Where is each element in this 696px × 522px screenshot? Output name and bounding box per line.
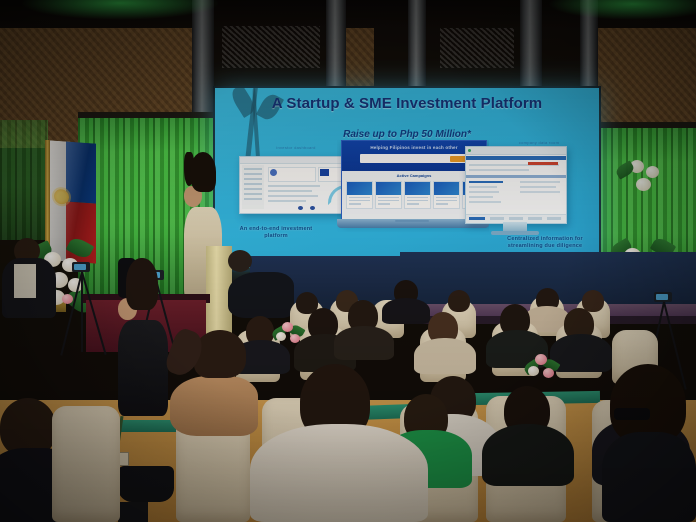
micro-label-left: investor dashboard xyxy=(251,145,341,150)
ceiling-glow-left xyxy=(20,0,220,20)
table-centerpiece-b xyxy=(524,350,560,386)
wall-pane-right xyxy=(440,28,514,68)
pillar-c xyxy=(408,0,426,92)
data-room-screenshot xyxy=(465,146,567,224)
led-presentation-screen: A Startup & SME Investment Platform Rais… xyxy=(215,88,599,268)
micro-label-right: company data room xyxy=(491,140,587,145)
presentation-subtitle: Raise up to Php 50 Million* xyxy=(215,129,599,140)
floral-arrangement-upper-right xyxy=(614,150,674,210)
laptop-search-bar xyxy=(360,154,468,163)
camera-tripod-left xyxy=(62,262,102,358)
pillar-d xyxy=(520,0,542,95)
wall-pane-left xyxy=(222,26,320,68)
monitor-foot xyxy=(491,231,539,235)
green-curtain-far-left xyxy=(0,120,48,240)
attendee-standing-center xyxy=(228,250,294,318)
ceiling-glow-right xyxy=(548,0,696,20)
table-centerpiece-a xyxy=(272,318,306,352)
woman-bending-foreground xyxy=(170,330,258,436)
presentation-title: A Startup & SME Investment Platform xyxy=(215,96,599,112)
woman-with-lanyard xyxy=(118,258,174,522)
caption-right: Centralized information for streamlining… xyxy=(497,236,593,250)
caption-left: An end-to-end investment platform xyxy=(233,226,319,240)
conference-photo: A Startup & SME Investment Platform Rais… xyxy=(0,0,696,522)
pillar-b xyxy=(326,0,346,95)
